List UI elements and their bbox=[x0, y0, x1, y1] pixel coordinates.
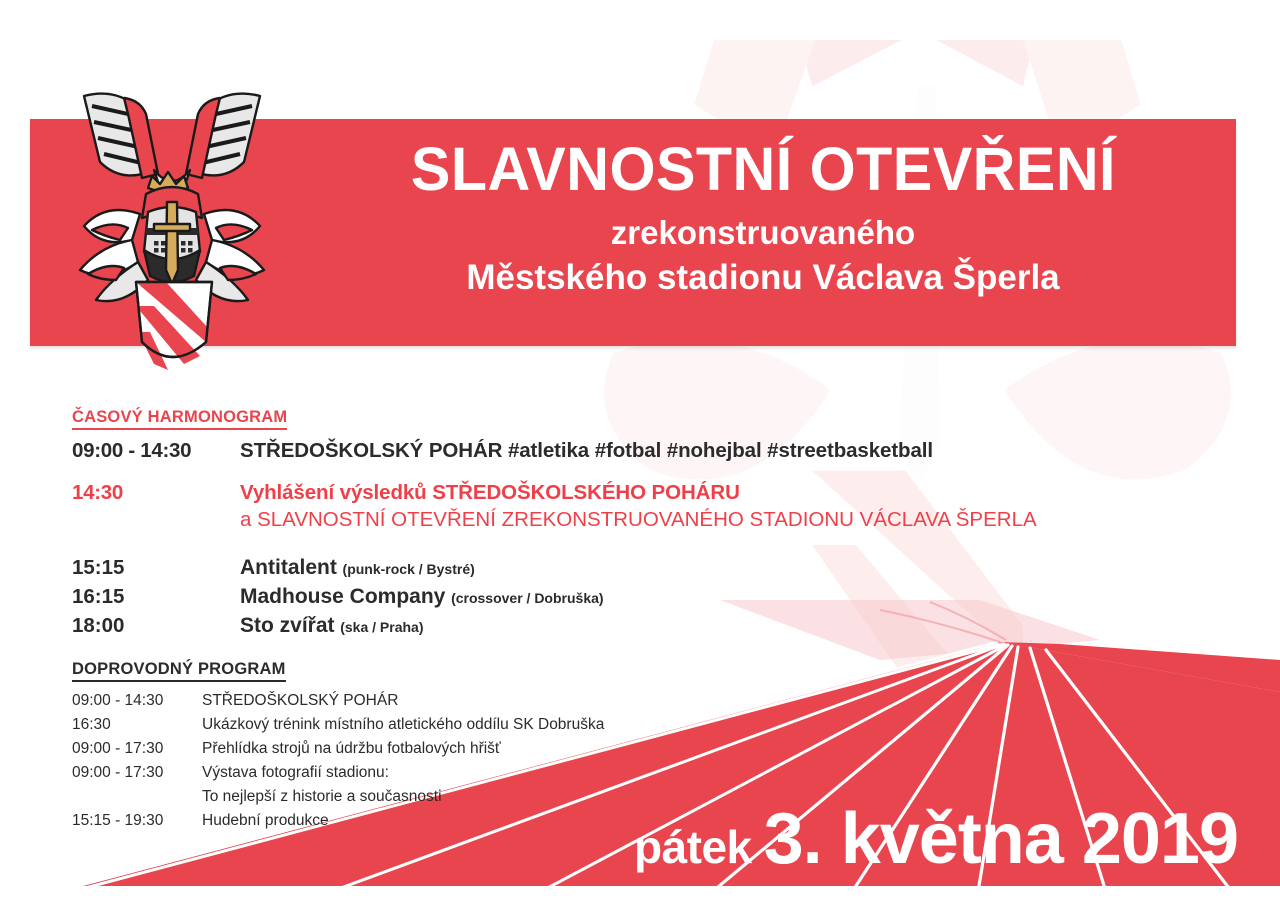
poster-canvas: SLAVNOSTNÍ OTEVŘENÍ zrekonstruovaného Mě… bbox=[0, 0, 1280, 902]
spacer bbox=[72, 534, 1192, 554]
band-name: Antitalent bbox=[240, 556, 337, 579]
schedule-row: 09:00 - 14:30 STŘEDOŠKOLSKÝ POHÁR #atlet… bbox=[72, 437, 1192, 464]
band-name: Sto zvířat bbox=[240, 614, 335, 637]
accompanying-time: 16:30 bbox=[72, 713, 202, 737]
accompanying-row: 09:00 - 14:30 STŘEDOŠKOLSKÝ POHÁR bbox=[72, 689, 1192, 713]
page-subtitle-2: Městského stadionu Václava Šperla bbox=[466, 259, 1059, 298]
event-dateline: pátek 3. května 2019 bbox=[634, 798, 1238, 880]
schedule-row-time: 14:30 bbox=[72, 479, 240, 506]
schedule-heading: ČASOVÝ HARMONOGRAM bbox=[72, 408, 287, 430]
accompanying-desc: Ukázkový trénink místního atletického od… bbox=[202, 713, 1192, 737]
schedule-row-highlight: 14:30 Vyhlášení výsledků STŘEDOŠKOLSKÉHO… bbox=[72, 479, 1192, 532]
band-genre: (punk-rock / Bystré) bbox=[343, 561, 475, 577]
accompanying-desc: STŘEDOŠKOLSKÝ POHÁR bbox=[202, 689, 1192, 713]
event-date: 3. května 2019 bbox=[764, 798, 1238, 880]
band-genre: (ska / Praha) bbox=[340, 619, 423, 635]
page-title: SLAVNOSTNÍ OTEVŘENÍ bbox=[410, 137, 1115, 201]
schedule-section: ČASOVÝ HARMONOGRAM 09:00 - 14:30 STŘEDOŠ… bbox=[72, 408, 1192, 833]
page-subtitle-1: zrekonstruovaného bbox=[611, 215, 915, 251]
spacer bbox=[72, 640, 1192, 660]
band-name: Madhouse Company bbox=[240, 585, 445, 608]
schedule-row-time: 09:00 - 14:30 bbox=[72, 437, 240, 464]
event-weekday: pátek bbox=[634, 820, 752, 874]
band-row: 15:15 Antitalent (punk-rock / Bystré) bbox=[72, 554, 1192, 582]
accompanying-row: 16:30 Ukázkový trénink místního atletick… bbox=[72, 713, 1192, 737]
accompanying-row: 09:00 - 17:30 Přehlídka strojů na údržbu… bbox=[72, 737, 1192, 761]
schedule-row-desc-line2: a SLAVNOSTNÍ OTEVŘENÍ ZREKONSTRUOVANÉHO … bbox=[72, 508, 1192, 532]
accompanying-desc: Přehlídka strojů na údržbu fotbalových h… bbox=[202, 737, 1192, 761]
accompanying-desc: Výstava fotografií stadionu: bbox=[202, 761, 1192, 785]
schedule-row-desc: Vyhlášení výsledků STŘEDOŠKOLSKÉHO POHÁR… bbox=[240, 479, 1192, 506]
accompanying-time: 09:00 - 17:30 bbox=[72, 761, 202, 785]
band-time: 18:00 bbox=[72, 612, 240, 639]
accompanying-row: 09:00 - 17:30 Výstava fotografií stadion… bbox=[72, 761, 1192, 785]
band-time: 16:15 bbox=[72, 583, 240, 610]
accompanying-time: 09:00 - 17:30 bbox=[72, 737, 202, 761]
accompanying-time: 09:00 - 14:30 bbox=[72, 689, 202, 713]
accompanying-time: 15:15 - 19:30 bbox=[72, 809, 202, 833]
band-row: 16:15 Madhouse Company (crossover / Dobr… bbox=[72, 583, 1192, 611]
schedule-row-desc: STŘEDOŠKOLSKÝ POHÁR #atletika #fotbal #n… bbox=[240, 437, 1192, 464]
accompanying-heading: DOPROVODNÝ PROGRAM bbox=[72, 660, 286, 682]
spacer bbox=[72, 466, 1192, 479]
coat-of-arms-icon bbox=[62, 84, 282, 384]
band-genre: (crossover / Dobruška) bbox=[451, 590, 604, 606]
band-row: 18:00 Sto zvířat (ska / Praha) bbox=[72, 612, 1192, 640]
band-time: 15:15 bbox=[72, 554, 240, 581]
